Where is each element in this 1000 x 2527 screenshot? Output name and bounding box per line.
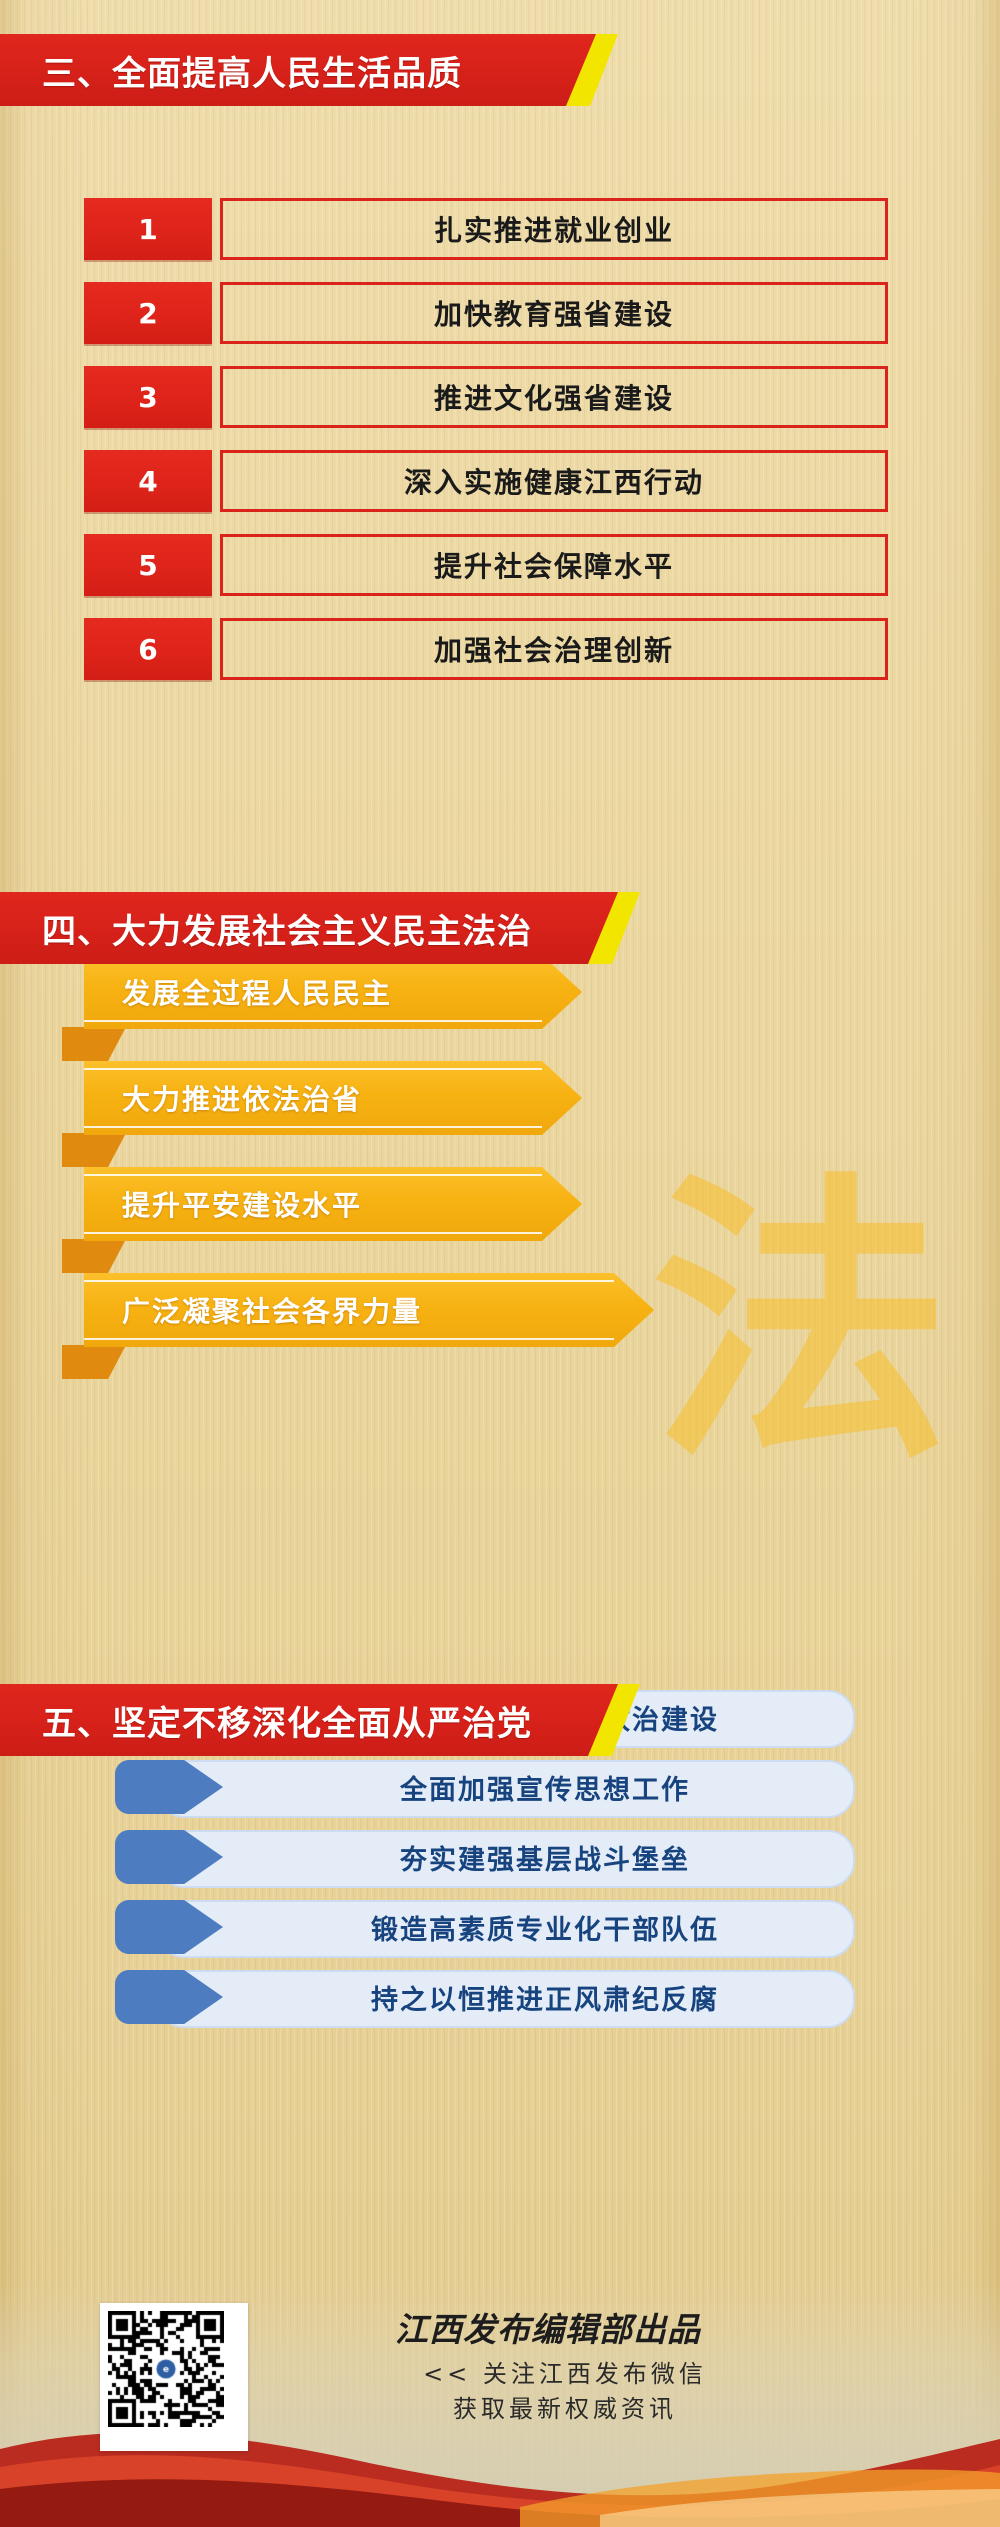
ribbon-label: 提升平安建设水平 [84, 1184, 362, 1224]
row-number-badge: 6 [84, 618, 212, 680]
section-three-title: 三、全面提高人民生活品质 [0, 46, 462, 95]
ribbon-label: 广泛凝聚社会各界力量 [84, 1290, 422, 1330]
qr-code[interactable] [100, 2303, 248, 2451]
numbered-row[interactable]: 5 提升社会保障水平 [84, 534, 888, 596]
footer-subtext-line-1: << 关注江西发布微信 [400, 2357, 730, 2392]
row-number-badge: 2 [84, 282, 212, 344]
ribbon-item[interactable]: 大力推进依法治省 [62, 1061, 622, 1153]
numbered-row[interactable]: 6 加强社会治理创新 [84, 618, 888, 680]
header-banner-red: 五、坚定不移深化全面从严治党 [0, 1684, 618, 1756]
footer: 江西发布编辑部出品 << 关注江西发布微信 获取最新权威资讯 [0, 2277, 1000, 2527]
numbered-row[interactable]: 1 扎实推进就业创业 [84, 198, 888, 260]
ribbon-label: 大力推进依法治省 [84, 1078, 362, 1118]
pill-label: 锻造高素质专业化干部队伍 [115, 1908, 915, 1947]
row-label: 推进文化强省建设 [220, 366, 888, 428]
numbered-row[interactable]: 4 深入实施健康江西行动 [84, 450, 888, 512]
section-header-four: 四、大力发展社会主义民主法治 [0, 892, 1000, 964]
row-label: 加强社会治理创新 [220, 618, 888, 680]
numbered-row[interactable]: 3 推进文化强省建设 [84, 366, 888, 428]
row-label: 提升社会保障水平 [220, 534, 888, 596]
row-number-badge: 1 [84, 198, 212, 260]
row-number-badge: 4 [84, 450, 212, 512]
row-number-badge: 3 [84, 366, 212, 428]
ribbon-fold [62, 1133, 126, 1167]
numbered-row[interactable]: 2 加快教育强省建设 [84, 282, 888, 344]
section-header-three: 三、全面提高人民生活品质 [0, 34, 1000, 106]
section-four-title: 四、大力发展社会主义民主法治 [0, 904, 532, 953]
pill-label: 夯实建强基层战斗堡垒 [115, 1838, 915, 1877]
watermark-fa-character: 法 [650, 1175, 950, 1475]
infographic-poster: 三、全面提高人民生活品质 1 扎实推进就业创业 2 加快教育强省建设 3 推进文… [0, 0, 1000, 2527]
section-four-list: 发展全过程人民民主 大力推进依法治省 提升平安建设水平 广泛凝聚社会各界力量 [62, 955, 622, 1379]
pill-item[interactable]: 锻造高素质专业化干部队伍 [115, 1900, 855, 1954]
ribbon-item[interactable]: 广泛凝聚社会各界力量 [62, 1273, 622, 1365]
pill-item[interactable]: 全面加强宣传思想工作 [115, 1760, 855, 1814]
ribbon-item[interactable]: 提升平安建设水平 [62, 1167, 622, 1259]
footer-subtext-line-2: 获取最新权威资讯 [400, 2392, 730, 2427]
pill-item[interactable]: 持之以恒推进正风肃纪反腐 [115, 1970, 855, 2024]
section-five-title: 五、坚定不移深化全面从严治党 [0, 1696, 532, 1745]
pill-item[interactable]: 夯实建强基层战斗堡垒 [115, 1830, 855, 1884]
section-three-list: 1 扎实推进就业创业 2 加快教育强省建设 3 推进文化强省建设 4 深入实施健… [84, 198, 888, 702]
ribbon-body: 广泛凝聚社会各界力量 [84, 1273, 654, 1347]
header-banner-red: 三、全面提高人民生活品质 [0, 34, 596, 106]
header-banner-red: 四、大力发展社会主义民主法治 [0, 892, 618, 964]
ribbon-item[interactable]: 发展全过程人民民主 [62, 955, 622, 1047]
ribbon-label: 发展全过程人民民主 [84, 972, 392, 1012]
row-label: 深入实施健康江西行动 [220, 450, 888, 512]
row-label: 加快教育强省建设 [220, 282, 888, 344]
ribbon-fold [62, 1027, 126, 1061]
row-number-badge: 5 [84, 534, 212, 596]
row-label: 扎实推进就业创业 [220, 198, 888, 260]
publisher-brand: 江西发布编辑部出品 [395, 2303, 701, 2351]
ribbon-fold [62, 1239, 126, 1273]
pill-label: 持之以恒推进正风肃纪反腐 [115, 1978, 915, 2017]
ribbon-body: 发展全过程人民民主 [84, 955, 582, 1029]
footer-subtext: << 关注江西发布微信 获取最新权威资讯 [400, 2357, 730, 2427]
ribbon-body: 大力推进依法治省 [84, 1061, 582, 1135]
ribbon-body: 提升平安建设水平 [84, 1167, 582, 1241]
pill-label: 全面加强宣传思想工作 [115, 1768, 915, 1807]
section-header-five: 五、坚定不移深化全面从严治党 [0, 1684, 1000, 1756]
ribbon-fold [62, 1345, 126, 1379]
